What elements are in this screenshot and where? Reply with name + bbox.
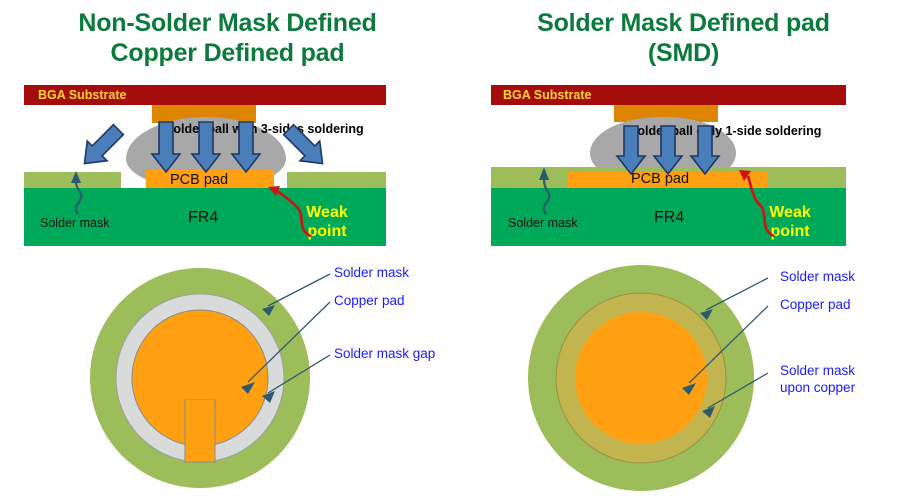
left-pad-top-view: Solder mask Copper pad Solder mask gap <box>0 250 455 500</box>
left-arrows-overlay <box>0 0 455 250</box>
right-cross-section: BGA Substrate Solder ball only 1-side so… <box>456 0 911 250</box>
left-down-arrow-3 <box>232 122 260 172</box>
right-callout-solder-mask-upon-copper: Solder mask upon copper <box>780 362 855 396</box>
right-callout-line-2: upon copper <box>780 379 855 396</box>
left-weak-point-leader <box>268 186 311 236</box>
right-callout-copper-pad: Copper pad <box>780 296 851 313</box>
right-copper-pad-disc <box>575 312 707 444</box>
right-down-arrow-2 <box>654 126 682 174</box>
right-weak-point-leader <box>739 170 774 236</box>
panel-solder-mask-defined: Solder Mask Defined pad (SMD) BGA Substr… <box>456 0 911 500</box>
right-callout-solder-mask: Solder mask <box>780 268 855 285</box>
left-callout-copper-pad: Copper pad <box>334 292 405 309</box>
right-solder-mask-leader <box>539 167 549 214</box>
right-down-arrow-1 <box>617 126 645 174</box>
left-down-arrow-1 <box>152 122 180 172</box>
left-down-arrow-2 <box>192 122 220 172</box>
left-callout-solder-mask: Solder mask <box>334 264 409 281</box>
right-arrows-overlay <box>456 0 911 250</box>
left-pad-graphic <box>0 250 455 500</box>
panel-non-solder-mask-defined: Non-Solder Mask Defined Copper Defined p… <box>0 0 455 500</box>
right-callout-line-1: Solder mask <box>780 362 855 379</box>
left-solder-mask-leader <box>71 171 81 214</box>
left-callout-solder-mask-gap: Solder mask gap <box>334 345 435 362</box>
left-diagonal-arrow-left <box>75 120 129 174</box>
left-diagonal-arrow-right <box>279 120 333 174</box>
right-pad-top-view: Solder mask Copper pad Solder mask upon … <box>456 250 911 500</box>
diagram-canvas: Non-Solder Mask Defined Copper Defined p… <box>0 0 911 500</box>
right-down-arrow-3 <box>691 126 719 174</box>
left-cross-section: BGA Substrate Solder ball with 3-sides s… <box>0 0 455 250</box>
